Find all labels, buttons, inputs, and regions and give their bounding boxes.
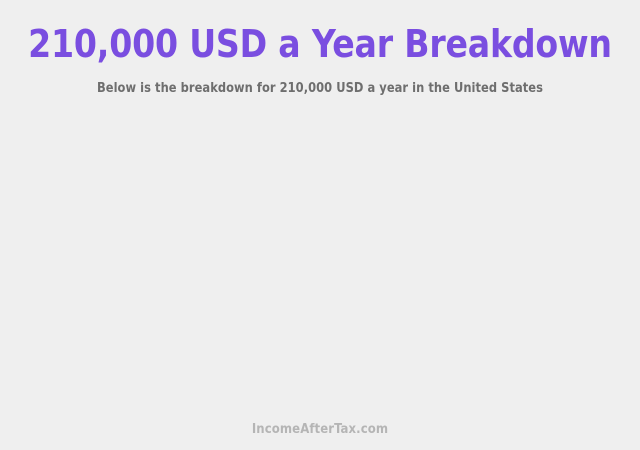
- site-footer: IncomeAfterTax.com: [0, 420, 640, 450]
- page-root: 210,000 USD a Year Breakdown Below is th…: [0, 0, 640, 450]
- page-header: 210,000 USD a Year Breakdown Below is th…: [0, 0, 640, 97]
- footer-site-credit-link[interactable]: IncomeAfterTax.com: [252, 422, 388, 437]
- page-subtitle: Below is the breakdown for 210,000 USD a…: [6, 81, 633, 97]
- content-area: [0, 97, 640, 420]
- page-title: 210,000 USD a Year Breakdown: [10, 21, 631, 67]
